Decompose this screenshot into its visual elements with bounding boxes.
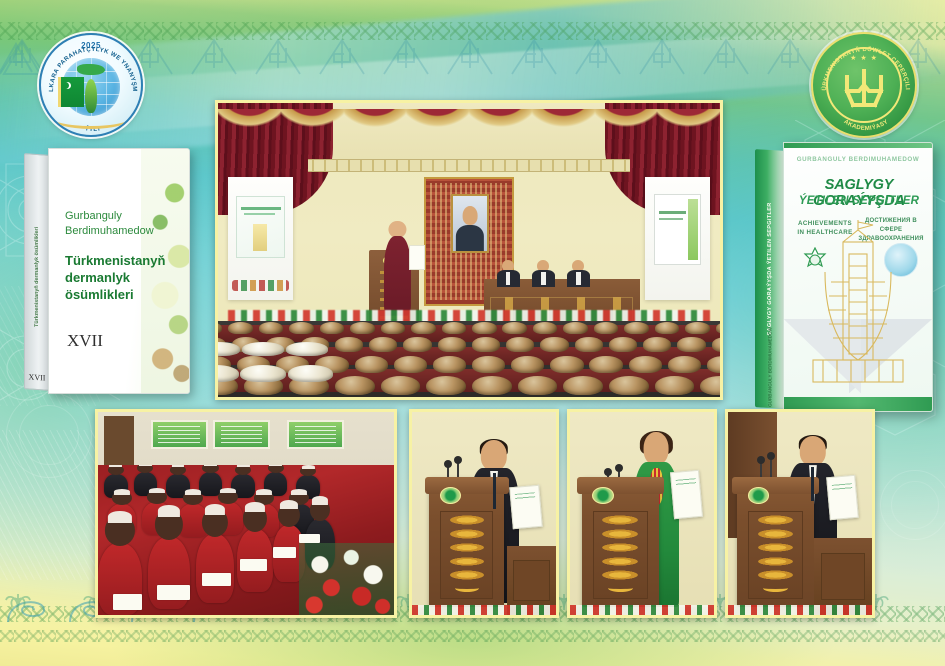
book-left-author-line1: Gurbanguly [65, 209, 175, 224]
president-portrait [451, 194, 489, 253]
podium-crescent-ornament-1 [455, 584, 479, 592]
banner-medicinal-plants-book [645, 177, 710, 300]
curtain-swags [218, 109, 720, 156]
book-right-title-line2: ÝETILEN SEPGITLER [788, 195, 930, 207]
book-left-spine: Türkmenistanyň dermanlyk ösümlikleri XVI… [24, 153, 50, 391]
speaker-3-head [800, 436, 826, 465]
presidium-member-1 [497, 260, 520, 286]
book-left-spine-volume: XVII [25, 372, 49, 383]
audience-row-1 [218, 322, 720, 334]
book-right-top-band [784, 143, 932, 148]
book-healthcare-achievements: SAGLYGY GORAÝYŞDA ÝETILEN SEPGITLER GURB… [755, 142, 933, 414]
hall-audience [218, 321, 720, 397]
speaker-1-tie [493, 473, 496, 509]
speaker-3-tie [811, 467, 814, 501]
presidium-member-2 [532, 260, 555, 286]
book-left-title-line2: dermanlyk [65, 270, 177, 287]
speaker-3-podium-top [732, 477, 819, 494]
banner-left-book-image [236, 196, 286, 258]
book-left-title: Türkmenistanyň dermanlyk ösümlikleri [65, 253, 177, 304]
front-flowers [299, 543, 394, 615]
emblem-academy-of-arts: TÜRKMENISTANYŇ DÖWLET ÇEPERÇILIK AKADEMI… [811, 32, 917, 138]
health-ministry-tower-illustration [803, 220, 913, 385]
academy-mark-icon [841, 67, 887, 109]
notebook-3 [202, 573, 232, 587]
stars-and-crescent-icon: ★ ★ ★ [850, 54, 878, 62]
book-left-title-line1: Türkmenistanyň [65, 253, 177, 270]
book-right-spine-text: SAGLYGY GORAÝYŞDA ÝETILEN SEPGITLER [767, 202, 773, 335]
podium-seal-icon-1 [440, 487, 461, 504]
speaker-body [384, 236, 412, 315]
wall-poster-2 [213, 420, 269, 448]
hall-frieze [308, 159, 629, 172]
book-left-author: Gurbanguly Berdimuhamedow [65, 209, 175, 239]
female-speaker-podium-photo [567, 409, 717, 618]
wheat-wreath-icon [49, 103, 133, 129]
presidium-member-3 [567, 260, 590, 286]
speaker-2-podium-top [577, 477, 664, 494]
conference-hall-photo [215, 100, 723, 400]
banner-right-book-image [654, 194, 701, 266]
male-speaker-podium-photo [409, 409, 559, 618]
speaker-2-flowers [570, 605, 714, 615]
book-right-author: GURBANGULY BERDIMUHAMEDOW [784, 155, 932, 164]
book-right-cover: GURBANGULY BERDIMUHAMEDOW SAGLYGY GORAÝY… [783, 142, 933, 412]
banner-left-ornament-strip [232, 280, 289, 291]
poster-canvas: 2025 HALKARA PARAHATÇYLYK WE YNANYŞMAK Ý… [0, 0, 945, 666]
turkmenistan-map-shape [77, 64, 105, 76]
speaker-1-podium-top [425, 477, 509, 494]
speaker-document [409, 245, 426, 269]
speaker-3-podium-panel [748, 511, 802, 599]
speaker-2-head [644, 432, 669, 465]
speaker-2-podium [582, 477, 660, 607]
speaker-3-document [826, 475, 859, 521]
notebook-6 [299, 534, 320, 543]
ornament-meander-top [0, 36, 945, 78]
book-right-spine-author: GURBANGULY BERDIMUHAMEDOW [768, 327, 773, 407]
students-audience-scene [98, 412, 394, 615]
book-left-spine-text: Türkmenistanyň dermanlyk ösümlikleri [34, 226, 40, 326]
seated-students [98, 465, 394, 615]
notebook-4 [240, 559, 267, 571]
book-medicinal-plants: Türkmenistanyň dermanlyk ösümlikleri XVI… [24, 148, 190, 396]
notebook-2 [157, 585, 190, 600]
audience-row-white-hats [218, 342, 328, 356]
book-left-cover: Gurbanguly Berdimuhamedow Türkmenistanyň… [48, 148, 190, 394]
emblem-year-of-peace: 2025 HALKARA PARAHATÇYLYK WE YNANYŞMAK Ý… [39, 33, 143, 137]
hall-speaker [384, 221, 412, 315]
male-speaker-podium-photo-2 [725, 409, 875, 618]
ornament-zigzag-bottom-secondary [0, 630, 945, 642]
ornament-mandala-right [880, 470, 945, 540]
podium-crescent-ornament-3 [763, 584, 788, 592]
portrait-suit [456, 225, 484, 251]
wall-poster-1 [151, 420, 207, 448]
speaker-2-document [670, 470, 703, 520]
notebook-5 [273, 547, 297, 558]
book-right-spine: SAGLYGY GORAÝYŞDA ÝETILEN SEPGITLER GURB… [755, 149, 785, 409]
speaker-1-head [481, 440, 507, 471]
book-left-title-line3: ösümlikleri [65, 287, 177, 304]
student-front-3 [196, 534, 234, 603]
female-speaker-scene [570, 412, 714, 615]
audience-row-white-hats-2 [218, 365, 333, 382]
wall-poster-3 [287, 420, 343, 448]
speaker-head [389, 221, 406, 238]
book-left-author-line2: Berdimuhamedow [65, 224, 175, 239]
podium-seal-icon-3 [748, 487, 770, 504]
notebook-1 [113, 594, 143, 611]
speaker-1-flowers [412, 605, 556, 615]
podium-seal-icon-2 [592, 487, 614, 504]
students-audience-photo [95, 409, 397, 618]
male-speaker-2-scene [728, 412, 872, 615]
book-left-volume: XVII [67, 331, 103, 351]
banner-healthcare-book [228, 177, 293, 300]
speaker-3-flowers [728, 605, 872, 615]
podium-crescent-ornament-2 [608, 584, 633, 592]
conference-hall-scene [218, 103, 720, 397]
speaker-1-podium-panel [440, 511, 492, 599]
speaker-3-side-desk [814, 538, 872, 615]
speaker-2-podium-panel [593, 511, 647, 599]
portrait-head [463, 206, 478, 225]
male-speaker-scene [412, 412, 556, 615]
speaker-1-document [509, 485, 543, 530]
speaker-3-podium [737, 477, 815, 607]
